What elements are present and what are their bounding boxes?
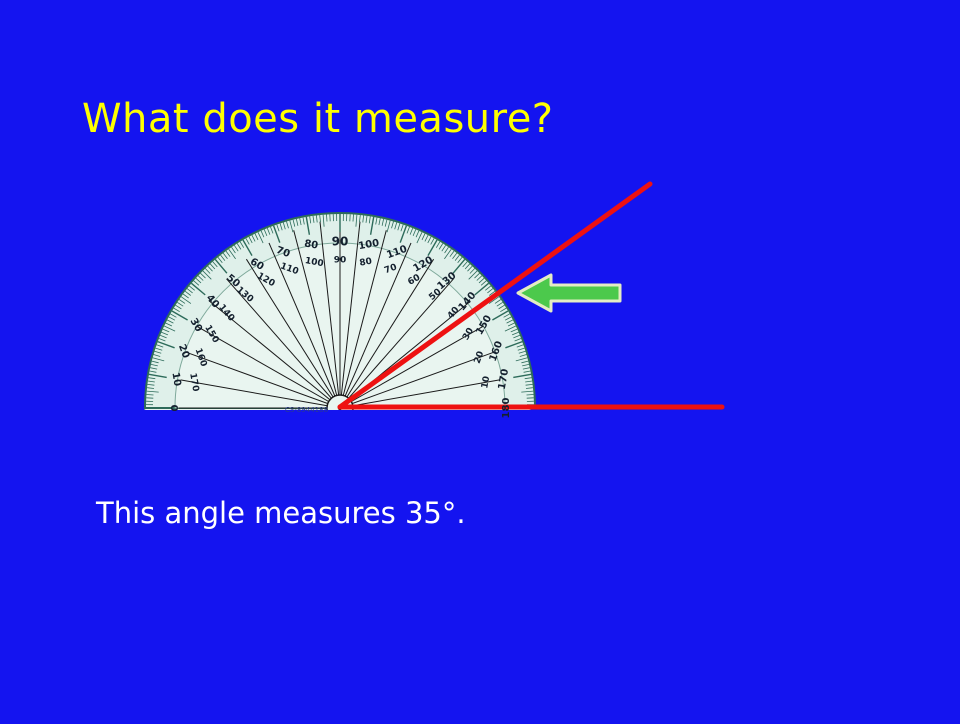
protractor-brand-text: CS-8944188 (285, 406, 328, 414)
protractor-scale-label: 120 (411, 255, 435, 275)
page-title: What does it measure? (82, 96, 554, 142)
protractor-scale-label: 110 (385, 244, 408, 261)
protractor-scale-label: 160 (488, 340, 505, 363)
protractor-scale-label: 150 (202, 324, 220, 345)
protractor-scale-label: 130 (435, 270, 458, 292)
protractor-scale-label: 70 (275, 245, 292, 260)
protractor-scale-label: 90 (332, 235, 349, 249)
protractor-scale-label: 110 (279, 261, 300, 277)
protractor-scale-label: 170 (187, 372, 200, 392)
angle-rays (340, 184, 722, 407)
protractor-graphic (145, 213, 535, 421)
protractor-scale-label: 100 (304, 256, 324, 269)
protractor-scale-label: 130 (234, 285, 255, 305)
protractor-scale-label: 150 (474, 313, 494, 337)
protractor-scale-label: 60 (406, 273, 422, 288)
protractor-scale-label: 20 (473, 350, 487, 365)
protractor-scale-label: 90 (334, 256, 347, 266)
protractor-scale-label: 0 (168, 405, 179, 412)
pointer-arrow (518, 275, 620, 311)
protractor-scale-label: 80 (303, 238, 319, 251)
protractor-scale-label: 60 (248, 256, 266, 273)
protractor-scale-label: 100 (358, 238, 381, 252)
protractor-scale-label: 140 (457, 290, 479, 313)
protractor-scale-label: 80 (359, 257, 373, 269)
protractor-scale-label: 160 (193, 347, 209, 368)
caption-text: This angle measures 35°. (96, 496, 466, 530)
protractor-scale-label: 40 (204, 293, 221, 311)
protractor-scale-label: 40 (446, 305, 462, 321)
protractor-scale-label: 10 (480, 375, 492, 389)
protractor-scale-label: 10 (169, 371, 182, 387)
slide-canvas: What does it measure? (0, 0, 960, 720)
protractor-scale-label: 170 (497, 368, 511, 391)
protractor-scale-label: 20 (176, 343, 191, 360)
protractor-scale-label: 50 (224, 272, 242, 289)
protractor-scale-label: 140 (216, 303, 236, 324)
protractor-scale-label: 50 (427, 287, 443, 303)
protractor-scale-label: 120 (255, 271, 276, 289)
protractor-scale-label: 180 (501, 398, 512, 419)
protractor-scale-label: 30 (188, 316, 205, 334)
protractor-scale-label: 70 (383, 263, 398, 277)
protractor-scale-label: 30 (461, 326, 476, 342)
diagonal-ray (340, 184, 650, 407)
